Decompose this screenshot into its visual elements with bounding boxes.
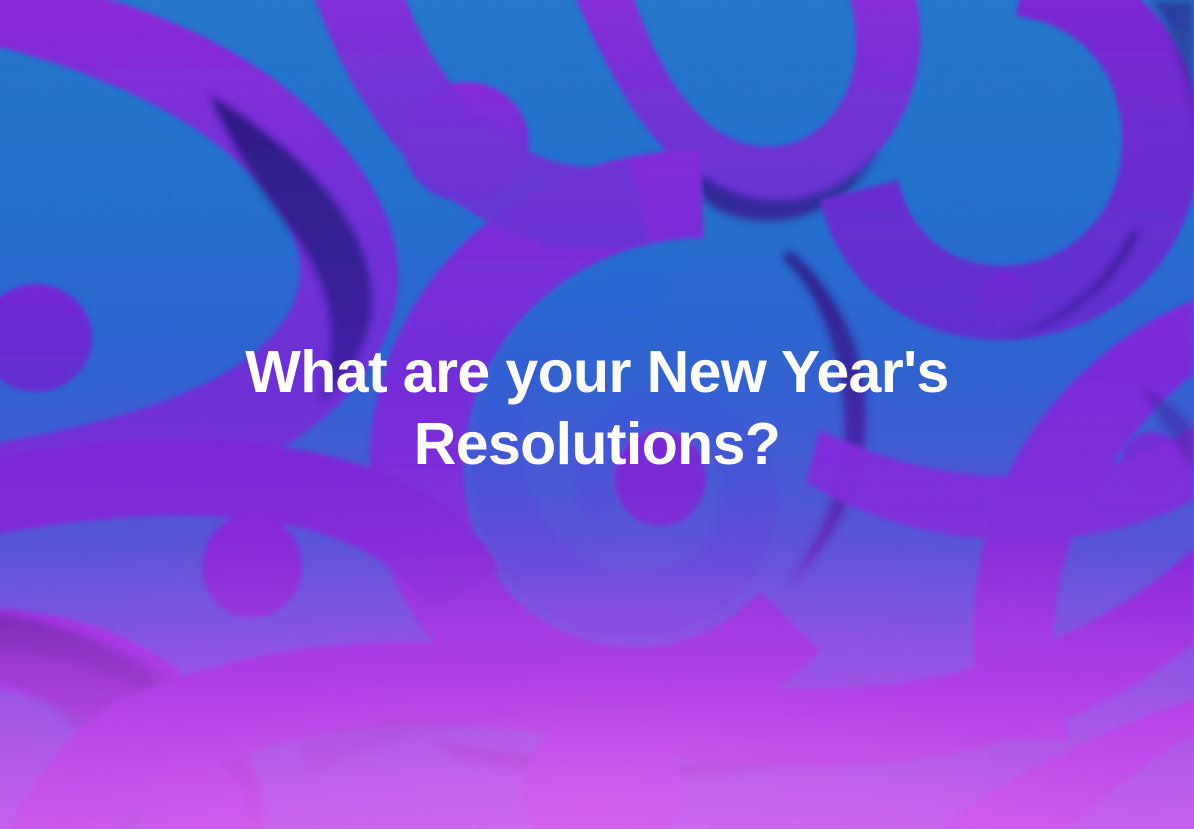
page-title: What are your New Year's Resolutions? <box>0 336 1194 480</box>
poster-canvas: What are your New Year's Resolutions? <box>0 0 1194 829</box>
